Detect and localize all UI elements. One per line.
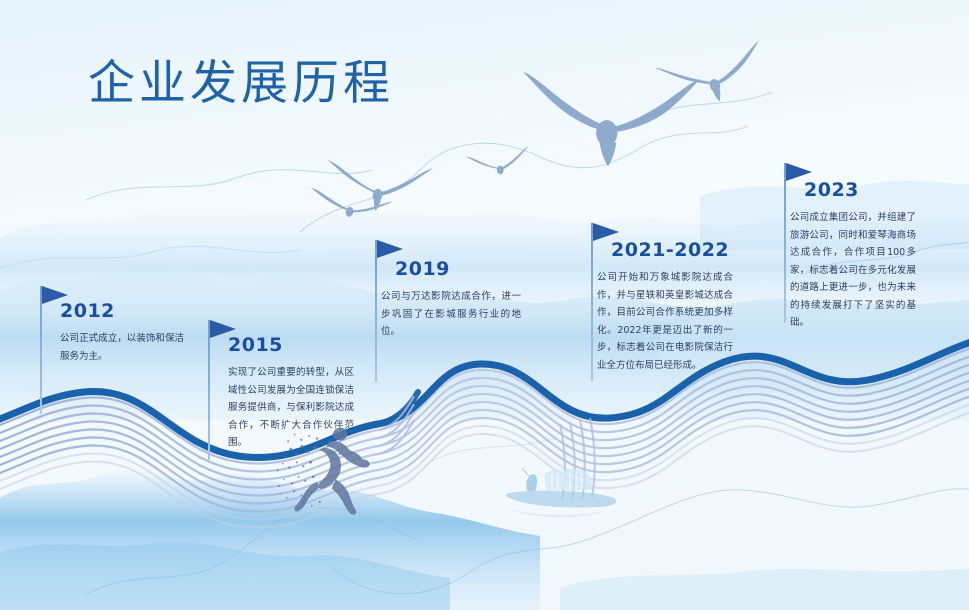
milestone-year: 2023 — [804, 179, 859, 201]
milestone-year: 2015 — [228, 334, 283, 356]
milestone-description: 公司与万达影院达成合作，进一步巩固了在影城服务行业的地位。 — [381, 288, 521, 341]
milestone-year: 2021-2022 — [611, 239, 729, 261]
flag-icon — [377, 240, 403, 258]
infographic-canvas: 企业发展历程 2012 公司正式成立，以装饰和保洁服务为主。 2015 实现了公… — [0, 0, 969, 610]
flag-pole — [375, 240, 377, 382]
flag-pole — [591, 223, 593, 381]
flag-pole — [40, 286, 42, 414]
page-title: 企业发展历程 — [88, 60, 394, 107]
milestone-description: 公司成立集团公司，并组建了旅游公司，同时和爱琴海商场达成合作，合作项目100多家… — [790, 209, 916, 332]
milestone-description: 实现了公司重要的转型，从区域性公司发展为全国连锁保洁服务提供商，与保利影院达成合… — [228, 364, 354, 452]
milestone-year: 2012 — [60, 300, 115, 322]
milestone-description: 公司正式成立，以装饰和保洁服务为主。 — [60, 330, 184, 365]
milestone-year: 2019 — [395, 258, 450, 280]
flag-pole — [208, 320, 210, 460]
flag-pole — [784, 163, 786, 323]
milestone-description: 公司开始和万象城影院达成合作，并与星轶和英皇影城达成合作，目前公司合作系统更加多… — [597, 269, 733, 374]
